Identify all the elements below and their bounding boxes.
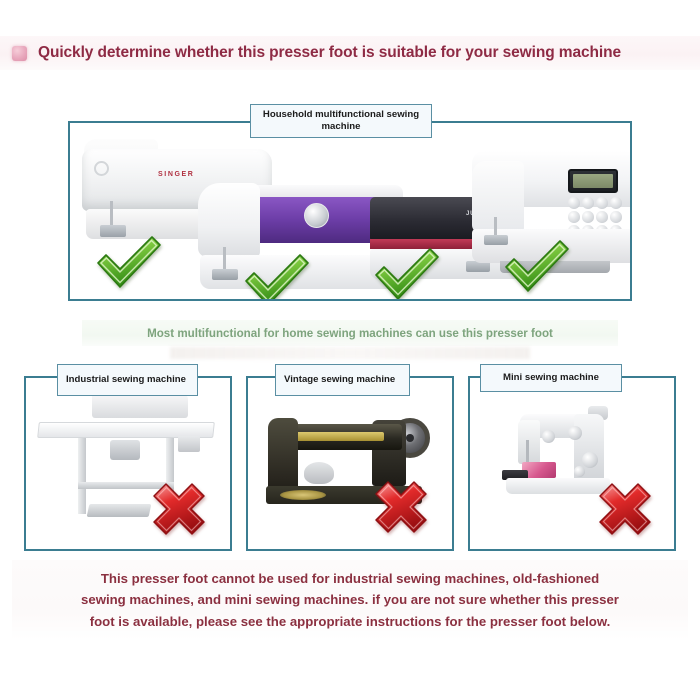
red-cross-icon [372,478,430,536]
incompatible-panel-industrial [24,376,232,551]
disclaimer-line-1: This presser foot cannot be used for ind… [101,568,599,589]
incompatible-panel-vintage [246,376,454,551]
lcd-screen [568,169,618,193]
compatible-machines-panel: SINGER JUKI [68,121,632,301]
red-cross-icon [150,480,208,538]
page-header: Quickly determine whether this presser f… [0,36,700,70]
bottom-disclaimer-note: This presser foot cannot be used for ind… [12,560,688,640]
page-title: Quickly determine whether this presser f… [38,44,621,62]
compatible-caption: Most multifunctional for home sewing mac… [82,320,618,346]
green-check-icon [500,235,574,297]
mini-machine-photo [470,378,674,549]
disclaimer-line-2: sewing machines, and mini sewing machine… [81,589,619,610]
keypad [568,197,622,231]
incompatible-panel-mini [468,376,676,551]
green-check-icon [92,231,166,293]
vintage-machine-photo [248,378,452,549]
green-check-icon [370,243,444,299]
compatible-machines-photo: SINGER JUKI [70,123,630,299]
industrial-machine-photo [26,378,230,549]
red-cross-icon [596,480,654,538]
machine-brand-singer: SINGER [158,171,194,178]
label-household-multifunctional: Household multifunctional sewing machine [250,104,432,138]
label-vintage-sewing-machine: Vintage sewing machine [275,364,410,396]
disclaimer-line-3: foot is available, please see the approp… [90,611,611,632]
label-mini-sewing-machine: Mini sewing machine [480,364,622,392]
green-check-icon [240,249,314,299]
label-industrial-sewing-machine: Industrial sewing machine [57,364,198,396]
background-watermark [170,347,530,359]
presser-foot-badge-icon [12,46,27,61]
